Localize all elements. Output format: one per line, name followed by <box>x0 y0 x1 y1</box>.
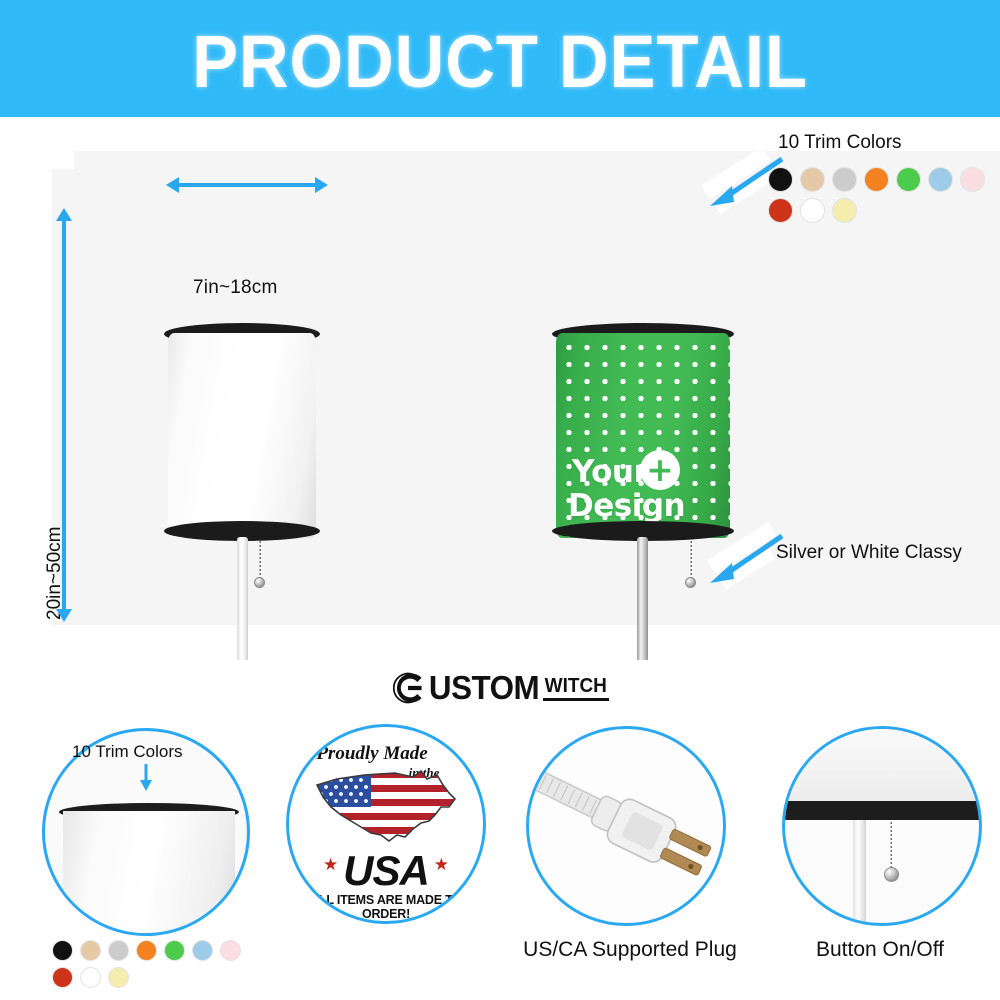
panel1-swatches[interactable] <box>52 940 272 994</box>
swatch-red[interactable] <box>52 967 73 988</box>
plug-caption: US/CA Supported Plug <box>500 938 760 962</box>
stage-edge-notch <box>0 625 1000 660</box>
plus-glyph: + <box>646 456 674 484</box>
plug-circle <box>526 726 726 926</box>
swatch-tan[interactable] <box>80 940 101 961</box>
usa-line1: Proudly Made <box>286 743 469 765</box>
design-text-line2: Design <box>568 489 685 523</box>
swatch-yellow[interactable] <box>108 967 129 988</box>
swatch-white[interactable] <box>80 967 101 988</box>
button-onoff-caption: Button On/Off <box>760 938 1000 962</box>
logo-underline <box>543 698 609 701</box>
swatch-black[interactable] <box>52 940 73 961</box>
swatch-light-blue[interactable] <box>928 167 953 192</box>
detail-panels: 10 Trim Colors Proudly Made <box>0 716 1000 1000</box>
brand-logo: USTOM WITCH <box>0 660 1000 716</box>
button-onoff-circle <box>782 726 982 926</box>
base-callout-label: Silver or White Classy <box>776 542 962 564</box>
panel-trim-colors: 10 Trim Colors <box>0 716 260 1000</box>
usa-star-right: ★ <box>434 855 449 875</box>
swatch-pink[interactable] <box>220 940 241 961</box>
usa-badge-circle: Proudly Made in the <box>286 724 486 924</box>
logo-custom-text: USTOM <box>429 669 539 707</box>
swatch-pink[interactable] <box>960 167 985 192</box>
usa-country-label: USA <box>289 847 483 895</box>
swatch-white[interactable] <box>800 198 825 223</box>
right-lamp-chain-ball[interactable] <box>685 577 696 588</box>
logo-c-icon <box>391 671 425 705</box>
panel4-pull-chain[interactable] <box>890 821 892 871</box>
swatch-orange[interactable] <box>864 167 889 192</box>
panel1-down-arrow <box>136 762 156 792</box>
left-lamp-pull-chain[interactable] <box>259 540 261 580</box>
plug-icon <box>529 729 726 926</box>
left-lamp-chain-ball[interactable] <box>254 577 265 588</box>
panel-button-on-off: Button On/Off <box>760 716 1000 1000</box>
usa-map-flag-icon <box>309 763 469 853</box>
panel-made-in-usa: Proudly Made in the <box>260 716 500 1000</box>
panel-plug: US/CA Supported Plug <box>500 716 760 1000</box>
panel1-inner-label: 10 Trim Colors <box>72 742 183 762</box>
swatch-red[interactable] <box>768 198 793 223</box>
usa-subtitle: ALL ITEMS ARE MADE TO ORDER! <box>289 893 483 921</box>
height-dimension-arrow <box>62 220 66 610</box>
swatch-yellow[interactable] <box>832 198 857 223</box>
design-text-line1: Your <box>572 455 648 489</box>
width-dimension-label: 7in~18cm <box>193 277 278 299</box>
product-detail-page: PRODUCT DETAIL 7in~18cm 20in~50cm <box>0 0 1000 1000</box>
width-dimension-arrow <box>178 183 316 187</box>
right-lamp-pull-chain[interactable] <box>690 540 692 580</box>
page-title: PRODUCT DETAIL <box>35 22 965 102</box>
swatch-light-blue[interactable] <box>192 940 213 961</box>
logo-witch-block: WITCH <box>543 676 609 701</box>
swatch-gray[interactable] <box>108 940 129 961</box>
plus-icon[interactable]: + <box>640 450 680 490</box>
main-stage: 7in~18cm 20in~50cm <box>0 125 1000 660</box>
swatch-green[interactable] <box>896 167 921 192</box>
swatch-black[interactable] <box>768 167 793 192</box>
swatch-green[interactable] <box>164 940 185 961</box>
left-lamp-shade <box>168 333 316 538</box>
trim-colors-title: 10 Trim Colors <box>778 132 902 154</box>
trim-colors-swatches[interactable] <box>768 167 998 229</box>
swatch-tan[interactable] <box>800 167 825 192</box>
stage-edge-notch <box>52 125 74 169</box>
swatch-gray[interactable] <box>832 167 857 192</box>
panel4-chain-ball[interactable] <box>884 867 899 882</box>
swatch-orange[interactable] <box>136 940 157 961</box>
logo-witch-text: WITCH <box>545 676 607 696</box>
